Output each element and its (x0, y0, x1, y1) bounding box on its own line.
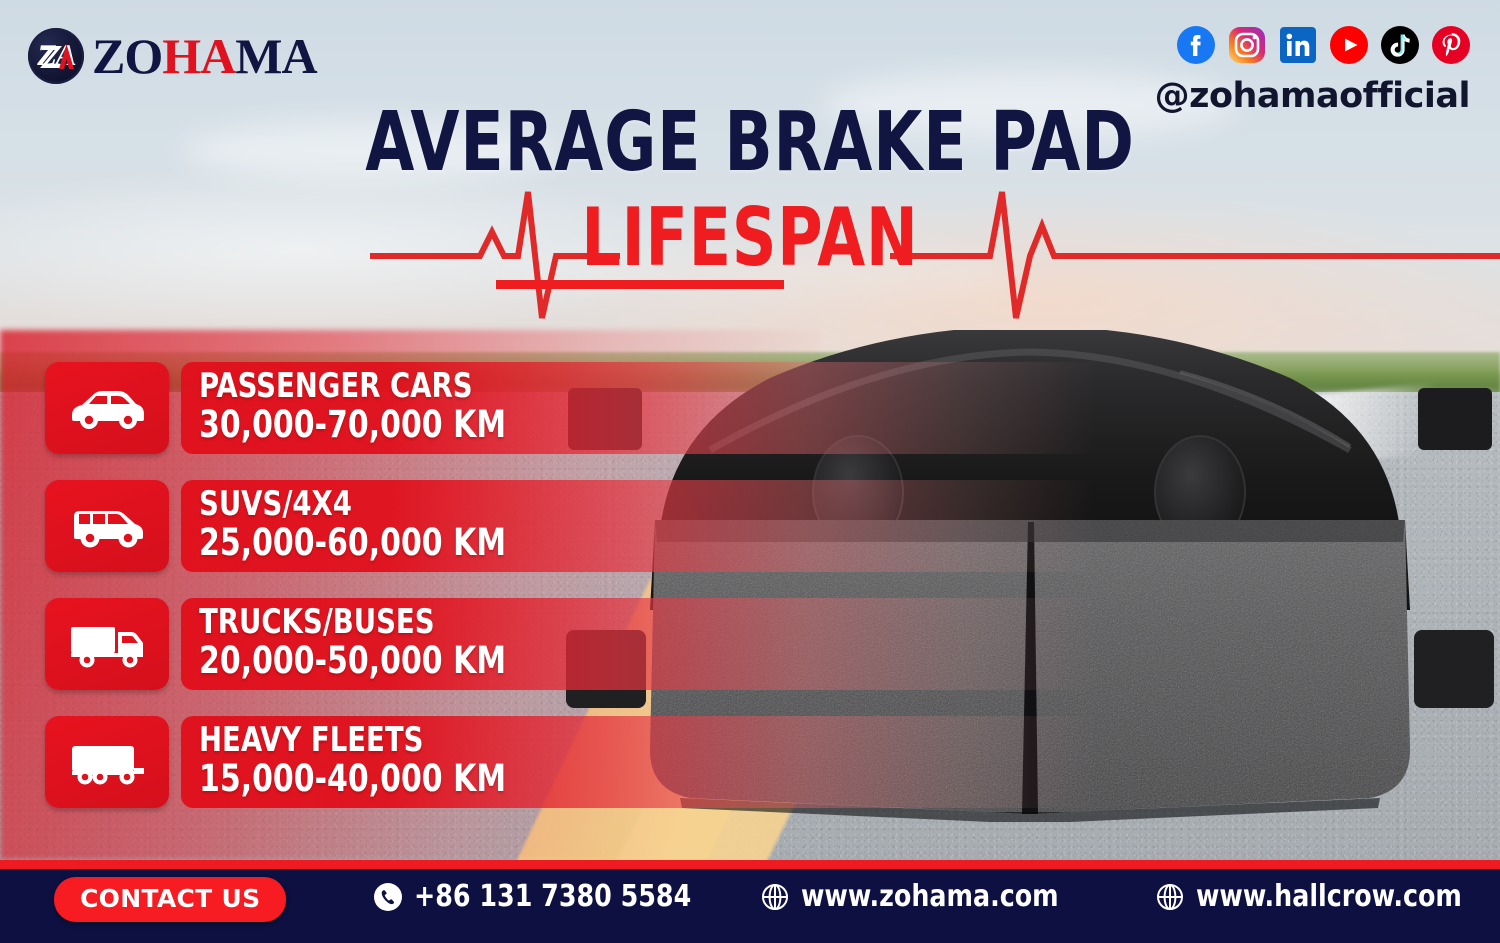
footer-bar: CONTACT US +86 131 7380 5584 www.zohama.… (0, 860, 1500, 943)
logo-word-part2: HA (162, 28, 235, 84)
logo-word-part3: MA (235, 28, 316, 84)
social-links (1177, 26, 1470, 64)
tiktok-icon[interactable] (1381, 26, 1419, 64)
footer-website-2[interactable]: www.hallcrow.com (1155, 879, 1479, 914)
linkedin-icon[interactable] (1279, 26, 1317, 64)
phone-icon (373, 882, 403, 912)
trailer-icon (45, 716, 169, 808)
globe-icon (1155, 882, 1185, 912)
lifespan-list: PASSENGER CARS 30,000-70,000 KM SUVS/4X4… (45, 362, 1221, 834)
page-subtitle: LIFESPAN (105, 198, 1395, 278)
list-item: PASSENGER CARS 30,000-70,000 KM (45, 362, 1221, 458)
pinterest-icon[interactable] (1432, 26, 1470, 64)
label-bar: SUVS/4X4 25,000-60,000 KM (181, 480, 1221, 572)
footer-website-2-text: www.hallcrow.com (1196, 879, 1462, 914)
logo-word-part1: ZO (92, 28, 162, 84)
footer-website-1-text: www.zohama.com (801, 879, 1059, 914)
list-item-title: TRUCKS/BUSES (199, 605, 1119, 640)
car-icon (45, 362, 169, 454)
footer-website-1[interactable]: www.zohama.com (760, 879, 1075, 914)
instagram-icon[interactable] (1228, 26, 1266, 64)
truck-icon (45, 598, 169, 690)
logo-wordmark: ZOHAMA (92, 31, 317, 81)
list-item-range: 30,000-70,000 KM (199, 406, 1119, 444)
footer-phone[interactable]: +86 131 7380 5584 (373, 879, 709, 914)
list-item-title: PASSENGER CARS (199, 369, 1119, 404)
label-bar: TRUCKS/BUSES 20,000-50,000 KM (181, 598, 1221, 690)
label-bar: HEAVY FLEETS 15,000-40,000 KM (181, 716, 1221, 808)
label-bar: PASSENGER CARS 30,000-70,000 KM (181, 362, 1221, 454)
suv-icon (45, 480, 169, 572)
list-item: TRUCKS/BUSES 20,000-50,000 KM (45, 598, 1221, 694)
contact-us-button[interactable]: CONTACT US (54, 877, 286, 922)
footer-phone-text: +86 131 7380 5584 (414, 879, 691, 914)
facebook-icon[interactable] (1177, 26, 1215, 64)
list-item-range: 20,000-50,000 KM (199, 642, 1119, 680)
brand-logo[interactable]: ZA ZOHAMA (28, 28, 317, 84)
infographic-poster: ZA ZOHAMA (0, 0, 1500, 943)
youtube-icon[interactable] (1330, 26, 1368, 64)
list-item-range: 25,000-60,000 KM (199, 524, 1119, 562)
page-title: AVERAGE BRAKE PAD (105, 104, 1395, 182)
globe-icon (760, 882, 790, 912)
subtitle-underline (496, 280, 784, 289)
footer-red-stripe (0, 860, 1500, 869)
list-item-title: SUVS/4X4 (199, 487, 1119, 522)
list-item-title: HEAVY FLEETS (199, 723, 1119, 758)
list-item-range: 15,000-40,000 KM (199, 760, 1119, 798)
logo-badge-icon: ZA (28, 28, 84, 84)
list-item: HEAVY FLEETS 15,000-40,000 KM (45, 716, 1221, 812)
list-item: SUVS/4X4 25,000-60,000 KM (45, 480, 1221, 576)
